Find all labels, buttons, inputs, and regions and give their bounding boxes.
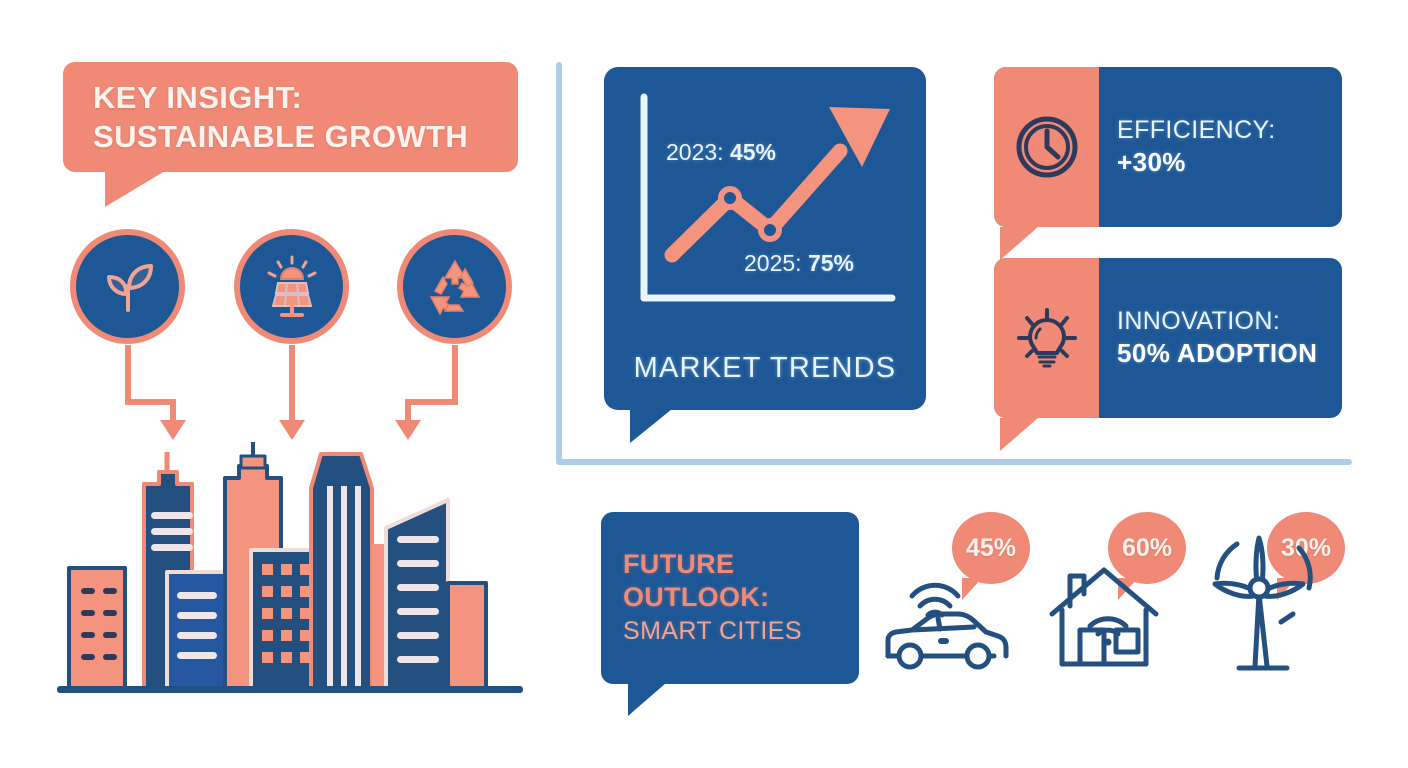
chart-annotation-2025: 2025: 75% [744,250,854,277]
efficiency-label: EFFICIENCY: [1117,114,1342,147]
vertical-divider [556,62,562,462]
stat-card-text: EFFICIENCY: +30% [1099,67,1342,227]
key-insight-line-2: SUSTAINABLE GROWTH [93,117,518,156]
smart-metric-home[interactable]: 60% [1040,508,1190,678]
market-trends-tail [630,409,672,443]
key-insight-line-1: KEY INSIGHT: [93,78,518,117]
future-outlook-line-2: OUTLOOK: [623,581,859,613]
stat-card-innovation[interactable]: INNOVATION: 50% ADOPTION [994,258,1342,418]
ground-line [57,686,523,693]
wind-turbine-icon [1195,530,1325,675]
pillar-circle-plant[interactable] [70,229,185,344]
key-insight-bubble: KEY INSIGHT: SUSTAINABLE GROWTH [63,62,518,172]
pillar-circle-recycle[interactable] [397,229,512,344]
innovation-value: 50% ADOPTION [1117,337,1342,371]
annotation-2023-value: 45% [730,139,776,165]
stat-card-text: INNOVATION: 50% ADOPTION [1099,258,1342,418]
smart-metric-car[interactable]: 45% [880,508,1030,678]
infographic-canvas: KEY INSIGHT: SUSTAINABLE GROWTH [0,0,1408,768]
city-skyline-illustration [55,440,525,695]
future-outlook-line-3: SMART CITIES [623,616,859,647]
stat-card-efficiency[interactable]: EFFICIENCY: +30% [994,67,1342,227]
future-outlook-tail [628,683,666,716]
innovation-label: INNOVATION: [1117,305,1342,338]
leaf-icon [93,252,163,322]
market-trends-chart [604,67,926,347]
annotation-2023-label: 2023: [666,139,730,165]
stat-card-icon-slot [994,258,1099,418]
efficiency-value: +30% [1117,146,1342,180]
market-trends-label: MARKET TRENDS [604,352,926,385]
stat-card-innovation-tail [1000,418,1038,451]
annotation-2025-value: 75% [808,250,854,276]
recycle-icon [421,253,489,321]
pillar-circle-solar[interactable] [234,229,349,344]
clock-icon [1014,114,1080,180]
annotation-2025-label: 2025: [744,250,808,276]
stat-card-efficiency-tail [1000,227,1038,260]
smart-home-icon [1046,560,1166,675]
solar-panel-icon [256,251,328,323]
smart-metric-wind[interactable]: 30% [1195,508,1345,678]
point-2023 [721,189,739,207]
future-outlook-line-1: FUTURE [623,548,859,580]
future-outlook-panel: FUTURE OUTLOOK: SMART CITIES [601,512,859,684]
stat-card-icon-slot [994,67,1099,227]
trend-line [672,151,840,255]
horizontal-divider [556,459,1352,465]
smart-car-icon [882,564,1010,674]
key-insight-bubble-tail [105,171,165,207]
point-2025 [761,221,779,239]
chart-annotation-2023: 2023: 45% [666,139,776,166]
lightbulb-icon [1014,305,1080,371]
